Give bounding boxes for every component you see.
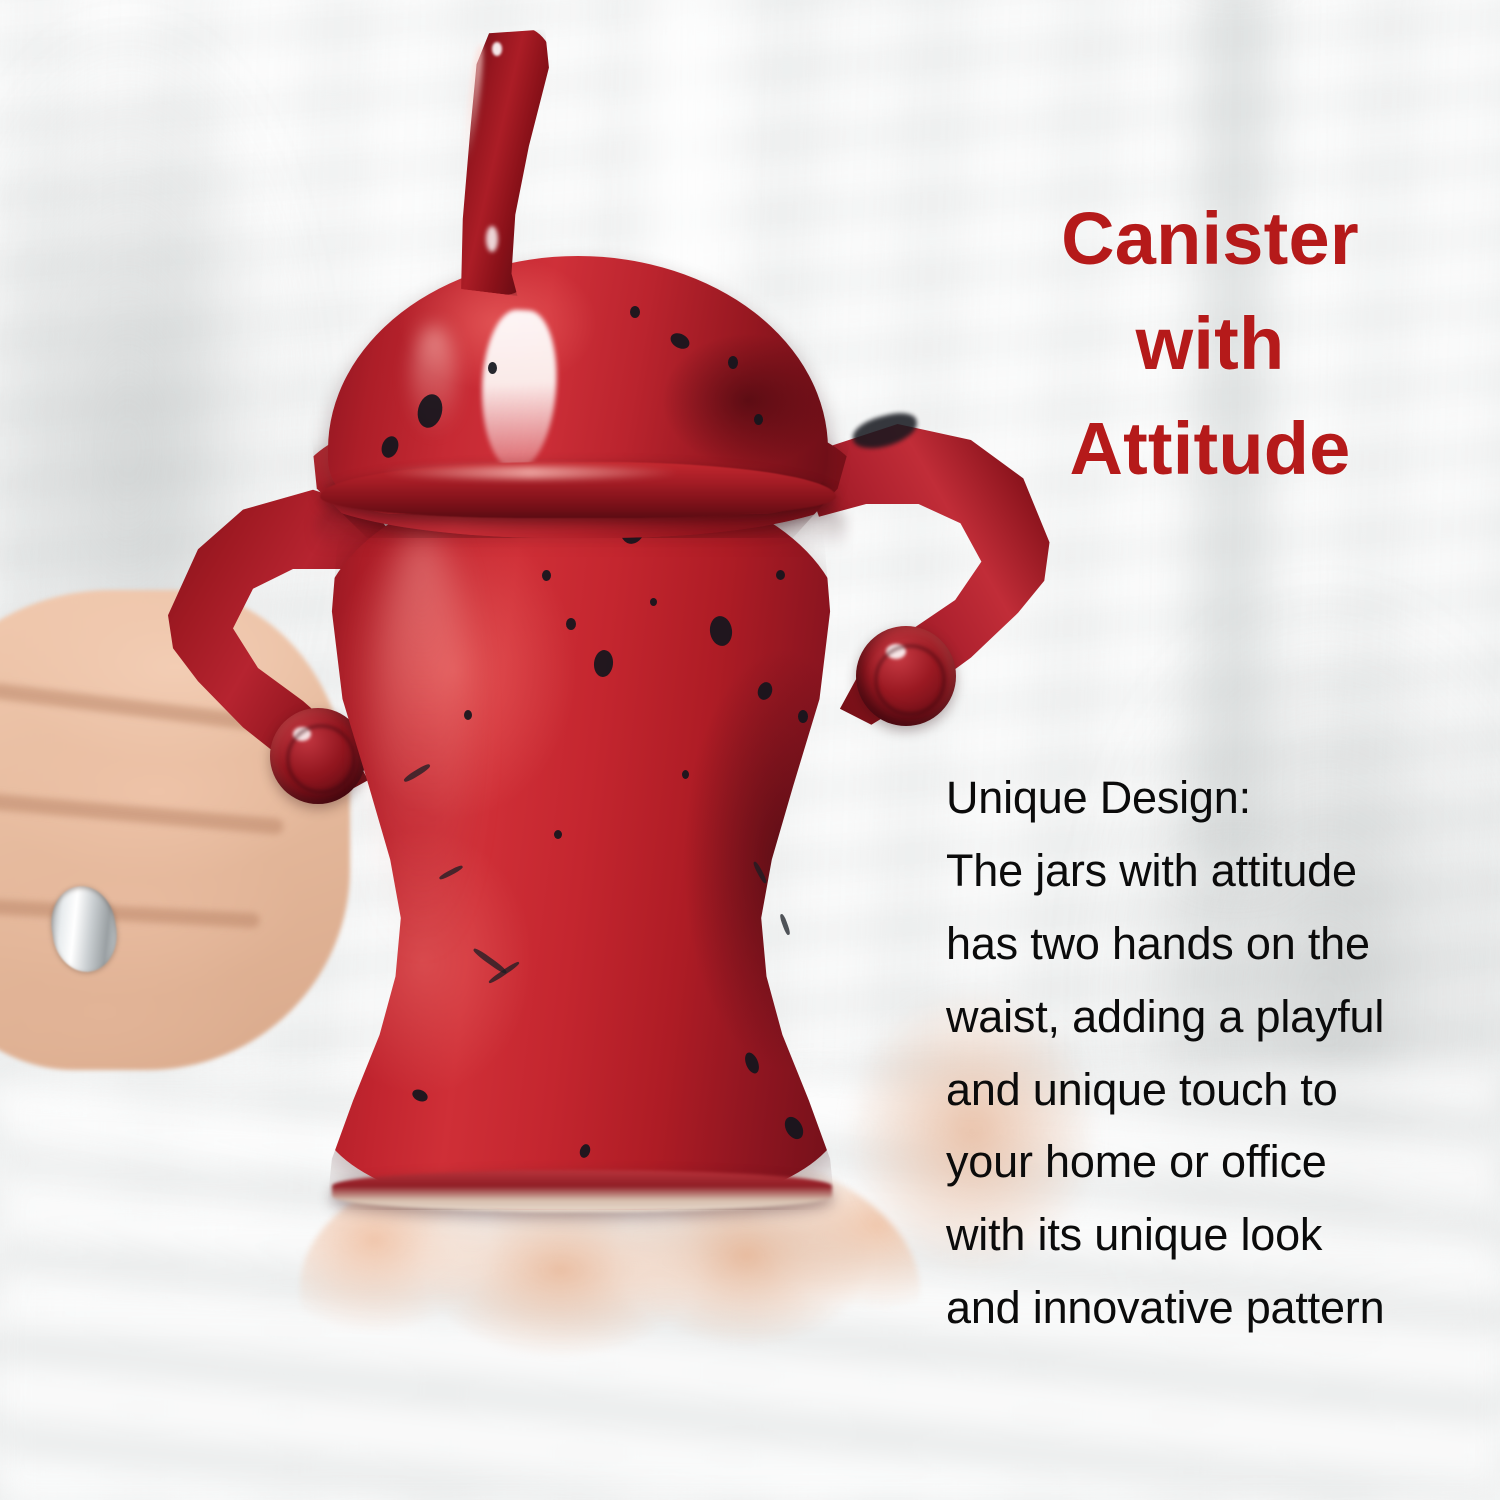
right-handle-spiral-ring <box>874 644 946 716</box>
finial-glint-lower <box>486 226 498 252</box>
glaze-speckle <box>776 570 785 580</box>
glaze-speckle <box>798 710 808 723</box>
feature-heading: Unique Design: <box>946 762 1486 835</box>
headline: Canister with Attitude <box>940 186 1480 501</box>
glaze-speckle <box>630 306 640 318</box>
glaze-speckle <box>650 598 657 606</box>
headline-line-3: Attitude <box>940 396 1480 501</box>
lid-flange-highlight <box>380 466 680 479</box>
left-handle-spiral-ring <box>286 724 356 794</box>
headline-line-2: with <box>940 291 1480 396</box>
glaze-speckle <box>754 414 763 425</box>
body-line-3: waist, adding a playful <box>946 981 1486 1054</box>
glaze-streak <box>779 913 791 935</box>
jar-base-rim <box>332 1170 832 1212</box>
headline-line-1: Canister <box>940 186 1480 291</box>
body-line-1: The jars with attitude <box>946 835 1486 908</box>
glaze-speckle <box>488 362 497 374</box>
glaze-speckle <box>542 570 551 581</box>
glaze-speckle <box>464 710 472 720</box>
body-line-2: has two hands on the <box>946 908 1486 981</box>
finial-glint <box>492 42 502 56</box>
ceramic-canister <box>150 10 1050 1270</box>
glaze-speckle <box>566 618 576 630</box>
body-line-7: and innovative pattern <box>946 1272 1486 1345</box>
body-line-6: with its unique look <box>946 1199 1486 1272</box>
body-line-4: and unique touch to <box>946 1054 1486 1127</box>
feature-description: Unique Design: The jars with attitude ha… <box>946 762 1486 1345</box>
product-infographic: Canister with Attitude Unique Design: Th… <box>0 0 1500 1500</box>
glaze-speckle <box>682 770 689 779</box>
glaze-speckle <box>728 356 738 369</box>
body-line-5: your home or office <box>946 1126 1486 1199</box>
lid-stem-finial <box>442 21 560 297</box>
jar-body-highlight <box>374 530 470 960</box>
glaze-speckle <box>554 830 562 839</box>
